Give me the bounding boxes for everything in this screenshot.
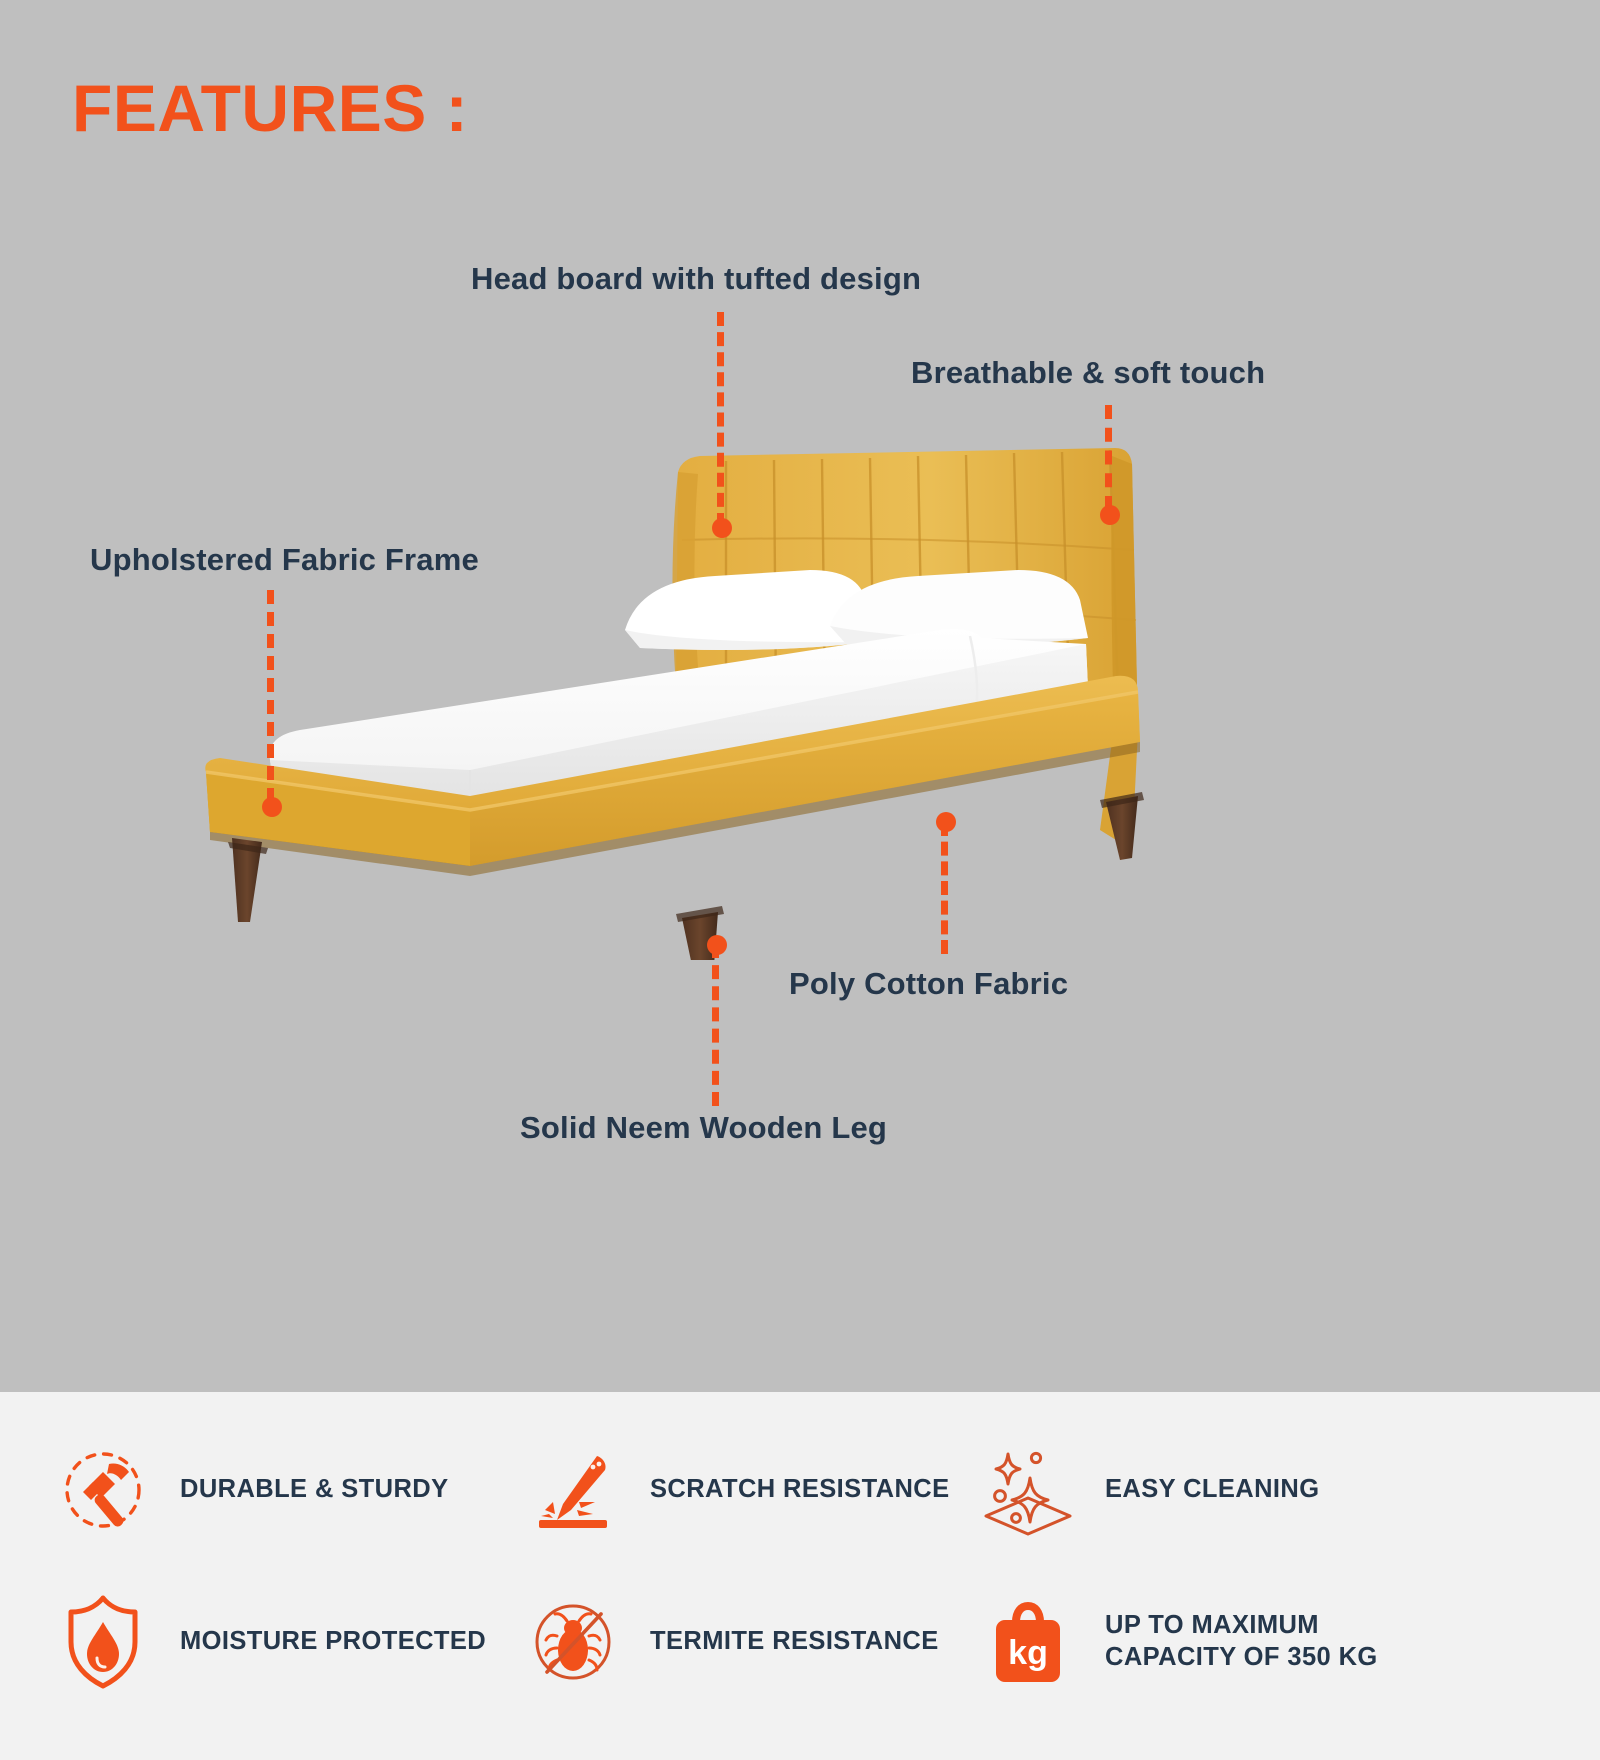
feature-item-termite: TERMITE RESISTANCE (518, 1588, 973, 1696)
hammer-icon (48, 1436, 158, 1544)
feature-label-moisture: MOISTURE PROTECTED (180, 1626, 486, 1658)
feature-label-termite: TERMITE RESISTANCE (650, 1626, 939, 1658)
feature-label-capacity-line1: UP TO MAXIMUM (1105, 1611, 1319, 1639)
feature-grid: DURABLE & STURDY SCRATCH R (48, 1414, 1558, 1718)
feature-label-cleaning: EASY CLEANING (1105, 1474, 1319, 1506)
callout-label-leg: Solid Neem Wooden Leg (520, 1110, 887, 1146)
leader-dot-icon-leg (707, 935, 727, 955)
hero-section: FEATURES : (0, 0, 1600, 1392)
no-bug-icon (518, 1588, 628, 1696)
leader-line-frame (267, 590, 274, 802)
leader-line-headboard (717, 312, 724, 527)
callout-label-headboard: Head board with tufted design (471, 261, 921, 297)
callout-label-breathable: Breathable & soft touch (911, 355, 1265, 391)
feature-label-capacity-line2: CAPACITY OF 350 KG (1105, 1643, 1378, 1671)
leader-line-breathable (1105, 405, 1112, 510)
feature-item-moisture: MOISTURE PROTECTED (48, 1588, 518, 1696)
leader-dot-icon-fabric (936, 812, 956, 832)
bed-illustration (170, 430, 1180, 960)
feature-item-scratch: SCRATCH RESISTANCE (518, 1436, 973, 1544)
shield-droplet-icon (48, 1588, 158, 1696)
infographic-page: FEATURES : (0, 0, 1600, 1760)
sparkle-surface-icon (973, 1436, 1083, 1544)
kg-badge-text: kg (1008, 1634, 1048, 1672)
feature-label-capacity: UP TO MAXIMUM CAPACITY OF 350 KG (1105, 1610, 1378, 1674)
leader-dot-icon-frame (262, 797, 282, 817)
feature-item-durable: DURABLE & STURDY (48, 1436, 518, 1544)
leader-line-leg (712, 944, 719, 1106)
callout-label-fabric: Poly Cotton Fabric (789, 966, 1068, 1002)
feature-item-cleaning: EASY CLEANING (973, 1436, 1403, 1544)
leader-line-fabric (941, 822, 948, 954)
feature-strip: DURABLE & STURDY SCRATCH R (0, 1392, 1600, 1760)
page-title: FEATURES : (72, 75, 468, 141)
kg-weight-bag-icon: kg (973, 1588, 1083, 1696)
callout-label-frame: Upholstered Fabric Frame (90, 542, 479, 578)
leader-dot-icon-breathable (1100, 505, 1120, 525)
knife-scratch-icon (518, 1436, 628, 1544)
leader-dot-icon-headboard (712, 518, 732, 538)
feature-item-capacity: kg UP TO MAXIMUM CAPACITY OF 350 KG (973, 1588, 1403, 1696)
feature-label-durable: DURABLE & STURDY (180, 1474, 449, 1506)
feature-label-scratch: SCRATCH RESISTANCE (650, 1474, 950, 1506)
